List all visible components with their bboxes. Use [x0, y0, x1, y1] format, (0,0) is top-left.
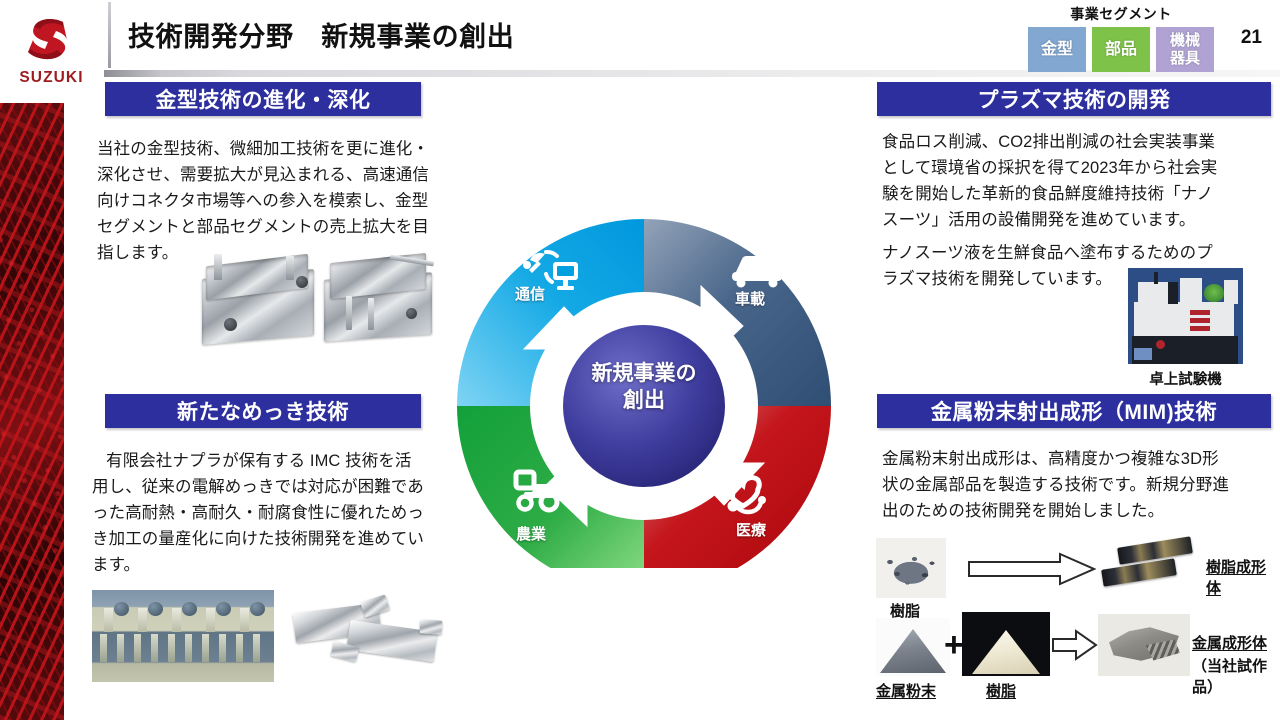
mim-label-metal-powder: 金属粉末 [876, 680, 936, 701]
mim-label-metal-molded-note: （当社試作品） [1192, 655, 1280, 697]
header-rule-cap [104, 70, 160, 77]
photo-plasma-desktop-tester [1128, 268, 1243, 364]
brand-logo: SUZUKI [0, 0, 103, 103]
quadrant-label-shasai: 車載 [735, 288, 765, 309]
cycle-core-text: 新規事業の 創出 [562, 360, 726, 414]
mim-label-resin-bottom: 樹脂 [986, 680, 1016, 701]
photo-resin-connectors [1098, 536, 1196, 598]
header-divider [108, 2, 111, 68]
body-text-plating: 有限会社ナプラが保有する IMC 技術を活用し、従来の電解めっきでは対応が困難で… [92, 448, 426, 578]
plus-icon: + [944, 626, 964, 665]
flow-arrow-small-icon [1052, 628, 1098, 662]
brand-name: SUZUKI [19, 69, 83, 87]
slide-canvas: SUZUKI 技術開発分野 新規事業の創出 事業セグメント 金型 部品 機械 器… [0, 0, 1280, 720]
photo-plated-terminals [288, 592, 470, 680]
suzuki-s-logo-icon [22, 16, 82, 68]
segment-badge-kikaikigu[interactable]: 機械 器具 [1156, 27, 1214, 72]
page-number: 21 [1241, 27, 1262, 49]
business-segment-legend: 事業セグメント 金型 部品 機械 器具 [1028, 4, 1214, 72]
segment-badge-kanagata-label: 金型 [1041, 41, 1073, 59]
photo-plating-terminal-strip [92, 590, 274, 682]
segment-badge-buhin[interactable]: 部品 [1092, 27, 1150, 72]
section-header-plating: 新たなめっき技術 [105, 394, 421, 428]
photo-metal-molded-part [1098, 614, 1190, 676]
cycle-core-line-1: 新規事業の [562, 360, 726, 387]
body-text-mold: 当社の金型技術、微細加工技術を更に進化・深化させ、需要拡大が見込まれる、高速通信… [97, 136, 441, 266]
decorative-left-strip [0, 103, 64, 720]
photo-resin-chips [876, 538, 946, 598]
mim-label-resin-molded: 樹脂成形体 [1206, 556, 1280, 598]
segment-legend-title: 事業セグメント [1028, 4, 1214, 24]
mim-label-metal-molded: 金属成形体 [1192, 632, 1267, 653]
quadrant-label-tsushin: 通信 [515, 283, 545, 304]
section-header-mold: 金型技術の進化・深化 [105, 82, 421, 116]
strip-texture [0, 103, 64, 720]
segment-badge-kanagata[interactable]: 金型 [1028, 27, 1086, 72]
photo-mold-dies [200, 252, 444, 362]
body-text-plasma-1: 食品ロス削減、CO2排出削減の社会実装事業として環境省の採択を得て2023年から… [882, 129, 1226, 233]
photo-caption-plasma: 卓上試験機 [1128, 368, 1243, 389]
quadrant-label-nogyo: 農業 [516, 523, 546, 544]
segment-badge-kikaikigu-label-1: 機械 [1170, 32, 1200, 50]
segment-badge-kikaikigu-label-2: 器具 [1170, 50, 1200, 68]
page-title: 技術開発分野 新規事業の創出 [128, 15, 514, 54]
body-text-mim: 金属粉末射出成形は、高精度かつ複雑な3D形状の金属部品を製造する技術です。新規分… [882, 446, 1230, 524]
flow-arrow-large-icon [968, 552, 1096, 586]
photo-metal-powder [876, 618, 950, 676]
quadrant-label-iryo: 医療 [736, 519, 766, 540]
cycle-core-line-2: 創出 [562, 387, 726, 414]
photo-resin-powder [962, 612, 1050, 676]
segment-badge-buhin-label: 部品 [1105, 41, 1137, 59]
section-header-mim: 金属粉末射出成形（MIM)技術 [877, 394, 1271, 428]
section-header-plasma: プラズマ技術の開発 [877, 82, 1271, 116]
